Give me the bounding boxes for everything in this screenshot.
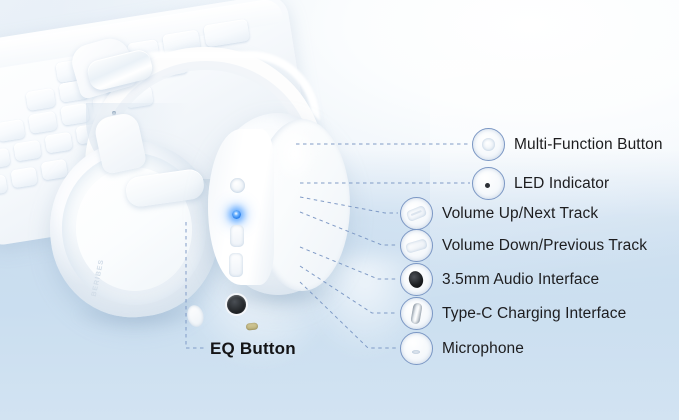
callout-label: Volume Down/Previous Track [442,237,647,255]
callout-label: Type-C Charging Interface [442,305,626,323]
callout-label: Volume Up/Next Track [442,205,598,223]
callout-label: Multi-Function Button [514,136,663,154]
audio-jack-on-product [227,295,246,314]
eq-button-label: EQ Button [210,339,296,359]
multi-function-button-on-product[interactable] [230,178,245,193]
callout-label: LED Indicator [514,175,609,193]
callout-label: 3.5mm Audio Interface [442,271,599,289]
round-button-icon [472,128,505,161]
led-indicator-on-product [232,210,241,219]
callout-multi-function-button[interactable]: Multi-Function Button [472,128,663,161]
microphone-hole-icon [400,332,433,365]
product-annotation-scene: BERIBES [0,0,679,420]
volume-up-button-on-product[interactable] [230,225,244,247]
headphones: BERIBES [40,45,450,345]
volume-down-button-on-product[interactable] [229,253,243,277]
right-earcup [208,113,348,295]
right-earcup-highlight [268,127,334,217]
usb-c-port-on-product [246,322,259,330]
led-dot-icon [472,167,505,200]
callout-microphone[interactable]: Microphone [400,332,524,365]
callout-led-indicator[interactable]: LED Indicator [472,167,609,200]
usb-c-port-icon [400,297,433,330]
callout-type-c[interactable]: Type-C Charging Interface [400,297,626,330]
callout-volume-up[interactable]: Volume Up/Next Track [400,197,598,230]
callout-volume-down[interactable]: Volume Down/Previous Track [400,229,647,262]
volume-down-button-icon [400,229,433,262]
callout-audio-jack[interactable]: 3.5mm Audio Interface [400,263,599,296]
callout-label: Microphone [442,340,524,358]
volume-up-button-icon [400,197,433,230]
audio-jack-icon [400,263,433,296]
